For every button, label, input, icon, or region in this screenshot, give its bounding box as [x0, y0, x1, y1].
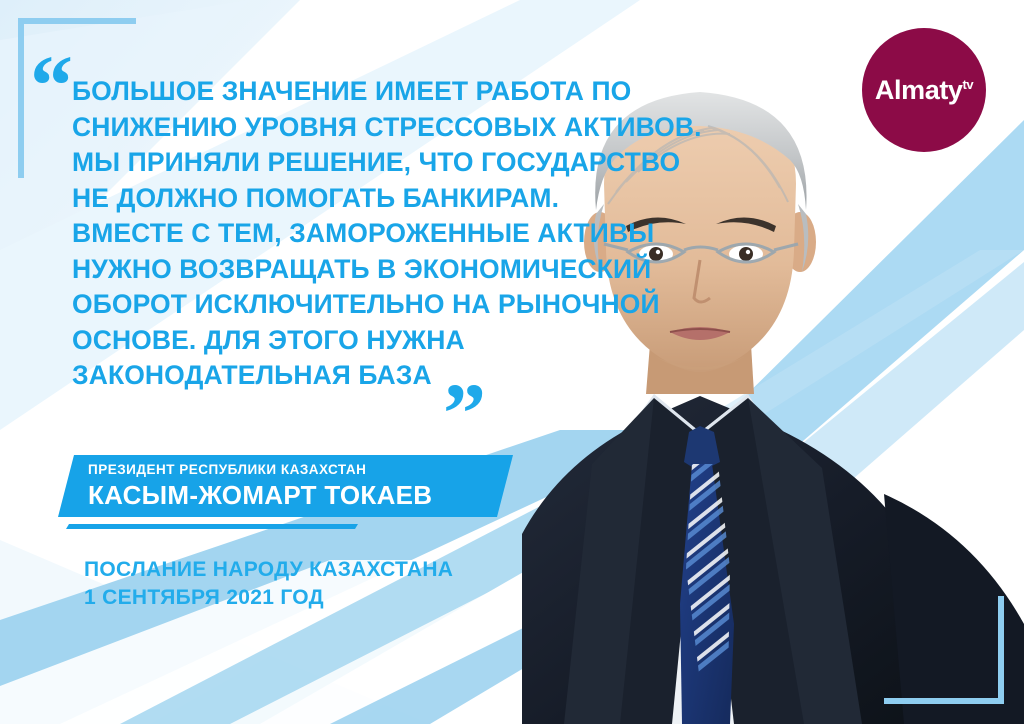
bracket-arm-horizontal [884, 698, 1004, 704]
logo-wordmark: Almatytv [875, 77, 973, 104]
quote-line: МЫ ПРИНЯЛИ РЕШЕНИЕ, ЧТО ГОСУДАРСТВО [72, 145, 712, 181]
almaty-tv-logo[interactable]: Almatytv [862, 28, 986, 152]
speaker-role: ПРЕЗИДЕНТ РЕСПУБЛИКИ КАЗАХСТАН [88, 460, 432, 479]
quote-line: ОБОРОТ ИСКЛЮЧИТЕЛЬНО НА РЫНОЧНОЙ [72, 287, 712, 323]
event-caption: ПОСЛАНИЕ НАРОДУ КАЗАХСТАНА 1 СЕНТЯБРЯ 20… [84, 556, 453, 612]
corner-bracket-bottom-right [884, 596, 1004, 704]
quote-line: ВМЕСТЕ С ТЕМ, ЗАМОРОЖЕННЫЕ АКТИВЫ [72, 216, 712, 252]
poster-canvas: Almatytv “ ” БОЛЬШОЕ ЗНАЧЕНИЕ ИМЕЕТ РАБО… [0, 0, 1024, 724]
bracket-arm-vertical [18, 18, 24, 178]
quote-line: НЕ ДОЛЖНО ПОМОГАТЬ БАНКИРАМ. [72, 181, 712, 217]
caption-line: 1 СЕНТЯБРЯ 2021 ГОД [84, 584, 453, 612]
attribution-underline [66, 524, 358, 529]
quote-open-mark: “ [30, 42, 73, 128]
speaker-name: КАСЫМ-ЖОМАРТ ТОКАЕВ [88, 479, 432, 511]
logo-tv-superscript: tv [963, 77, 974, 92]
bracket-arm-vertical [998, 596, 1004, 704]
quote-line: ЗАКОНОДАТЕЛЬНАЯ БАЗА [72, 358, 712, 394]
bracket-arm-horizontal [18, 18, 136, 24]
logo-name: Almaty [875, 75, 963, 105]
attribution-banner: ПРЕЗИДЕНТ РЕСПУБЛИКИ КАЗАХСТАН КАСЫМ-ЖОМ… [58, 455, 513, 517]
quote-line: БОЛЬШОЕ ЗНАЧЕНИЕ ИМЕЕТ РАБОТА ПО [72, 74, 712, 110]
caption-line: ПОСЛАНИЕ НАРОДУ КАЗАХСТАНА [84, 556, 453, 584]
attribution-text-group: ПРЕЗИДЕНТ РЕСПУБЛИКИ КАЗАХСТАН КАСЫМ-ЖОМ… [88, 460, 432, 511]
quote-line: НУЖНО ВОЗВРАЩАТЬ В ЭКОНОМИЧЕСКИЙ [72, 252, 712, 288]
quote-line: ОСНОВЕ. ДЛЯ ЭТОГО НУЖНА [72, 323, 712, 359]
quote-text-block: БОЛЬШОЕ ЗНАЧЕНИЕ ИМЕЕТ РАБОТА ПО СНИЖЕНИ… [72, 74, 712, 394]
quote-line: СНИЖЕНИЮ УРОВНЯ СТРЕССОВЫХ АКТИВОВ. [72, 110, 712, 146]
